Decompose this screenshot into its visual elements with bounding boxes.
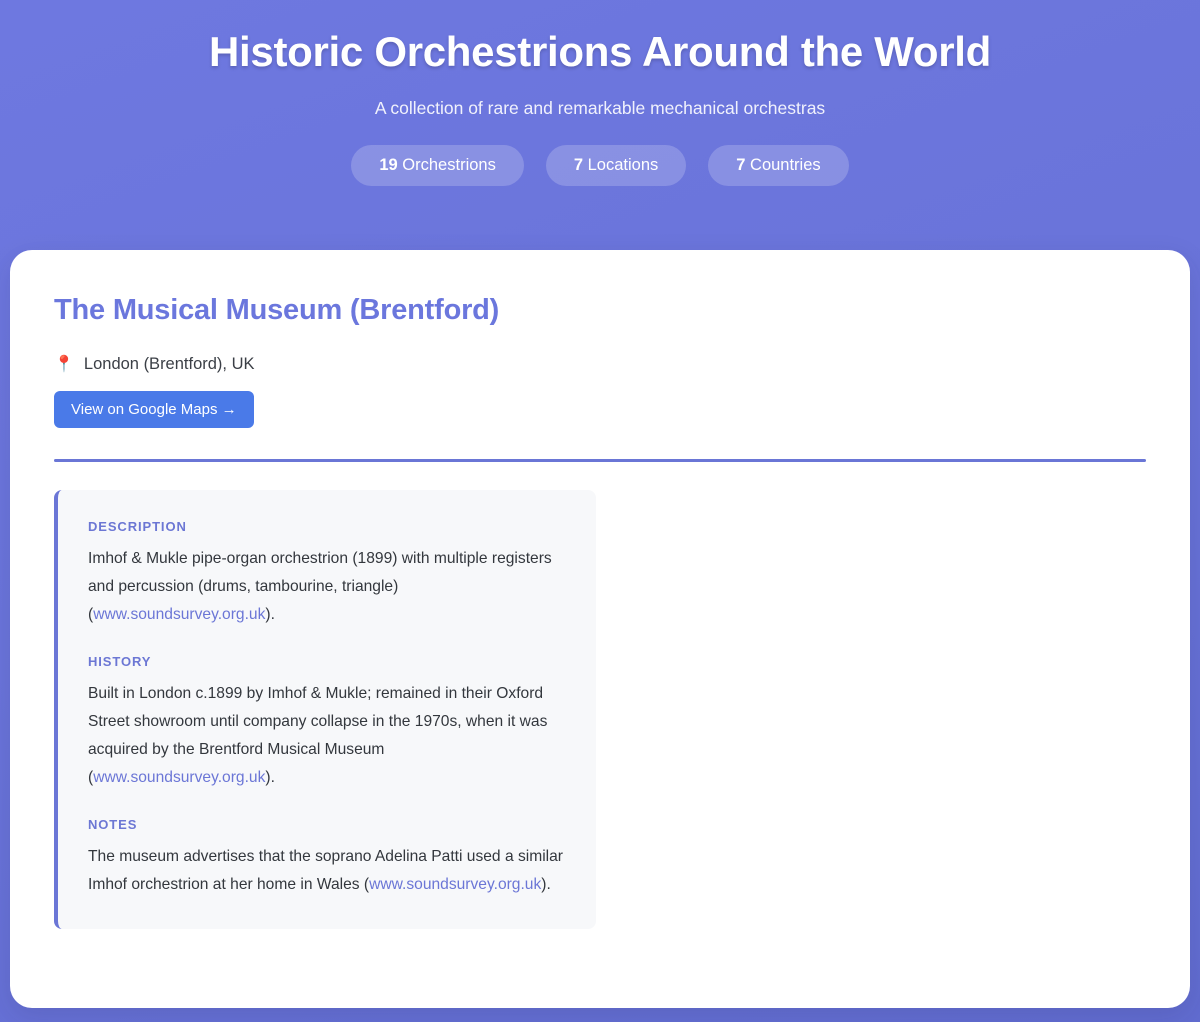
section-body-notes: The museum advertises that the soprano A… [88, 843, 564, 899]
location-row: 📍 London (Brentford), UK [54, 355, 1146, 374]
entry-title: The Musical Museum (Brentford) [54, 294, 1146, 327]
view-on-google-maps-button[interactable]: View on Google Maps → [54, 391, 254, 428]
section-body-history: Built in London c.1899 by Imhof & Mukle;… [88, 680, 564, 791]
stat-value-locations: 7 [574, 156, 583, 174]
details-panel: DESCRIPTION Imhof & Mukle pipe-organ orc… [54, 490, 596, 929]
page-title: Historic Orchestrions Around the World [20, 28, 1180, 76]
section-body-description: Imhof & Mukle pipe-organ orchestrion (18… [88, 545, 564, 628]
stat-pill-countries: 7 Countries [708, 145, 848, 186]
history-source-link[interactable]: www.soundsurvey.org.uk [93, 769, 265, 786]
section-label-description: DESCRIPTION [88, 519, 564, 534]
stat-label-countries: Countries [745, 156, 820, 174]
section-description: DESCRIPTION Imhof & Mukle pipe-organ orc… [88, 519, 564, 628]
notes-text-after: ). [541, 876, 551, 893]
map-pin-icon: 📍 [54, 357, 74, 373]
section-divider [54, 459, 1146, 462]
hero-header: Historic Orchestrions Around the World A… [0, 0, 1200, 216]
stat-pill-locations: 7 Locations [546, 145, 686, 186]
section-label-history: HISTORY [88, 654, 564, 669]
section-notes: NOTES The museum advertises that the sop… [88, 817, 564, 899]
page-subtitle: A collection of rare and remarkable mech… [20, 98, 1180, 119]
stat-label-locations: Locations [583, 156, 658, 174]
description-text-after: ). [265, 606, 275, 623]
stats-row: 19 Orchestrions 7 Locations 7 Countries [20, 145, 1180, 186]
history-text-after: ). [265, 769, 275, 786]
location-text: London (Brentford), UK [84, 355, 255, 374]
section-history: HISTORY Built in London c.1899 by Imhof … [88, 654, 564, 791]
description-source-link[interactable]: www.soundsurvey.org.uk [93, 606, 265, 623]
section-label-notes: NOTES [88, 817, 564, 832]
entry-card: The Musical Museum (Brentford) 📍 London … [10, 250, 1190, 1008]
page-root: Historic Orchestrions Around the World A… [0, 0, 1200, 1022]
stat-pill-orchestrions: 19 Orchestrions [351, 145, 523, 186]
notes-source-link[interactable]: www.soundsurvey.org.uk [369, 876, 541, 893]
stat-value-orchestrions: 19 [379, 156, 397, 174]
stat-label-orchestrions: Orchestrions [398, 156, 496, 174]
